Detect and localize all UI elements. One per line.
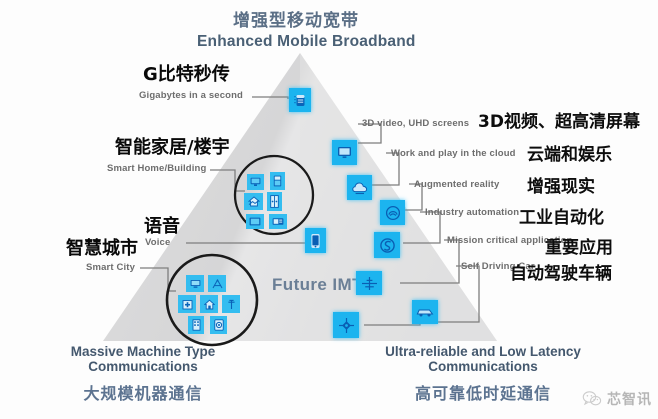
connector-mission <box>400 240 459 283</box>
title-cn: 增强型移动宽带 <box>233 6 359 31</box>
traffic-network-icon[interactable] <box>208 275 226 292</box>
watermark: 芯智讯 <box>582 389 652 409</box>
right-label-cn-3: 工业自动化 <box>519 203 604 228</box>
left-label-en-2: Voice <box>145 237 170 248</box>
left-label-en-0: Gigabytes in a second <box>139 90 243 101</box>
mobile-phone-icon[interactable] <box>305 228 326 253</box>
elevator-icon[interactable] <box>267 192 282 211</box>
city-home-icon[interactable] <box>200 295 218 313</box>
connector-smart-city <box>140 268 176 291</box>
smart-appliance-icon[interactable] <box>270 172 285 190</box>
bottom-left-cn: 大规模机器通信 <box>38 380 248 404</box>
bottom-left-block: Massive Machine Type Communications 大规模机… <box>38 344 248 404</box>
bottom-left-en-line1: Massive Machine Type <box>38 344 248 359</box>
self-driving-car-icon[interactable] <box>412 300 438 324</box>
left-label-cn-1: 智能家居/楼宇 <box>115 133 230 159</box>
right-label-cn-0: 3D视频、超高清屏幕 <box>478 107 640 132</box>
smart-speaker-icon[interactable] <box>269 214 287 229</box>
diagram-canvas: 增强型移动宽带 Enhanced Mobile Broadband G比特秒传 … <box>0 0 658 419</box>
bottom-right-en-line2: Communications <box>358 359 608 374</box>
server-icon[interactable] <box>289 88 311 112</box>
wechat-logo-icon <box>582 390 602 408</box>
connector-smart-home <box>210 170 245 191</box>
right-label-en-1: Work and play in the cloud <box>391 148 516 159</box>
bottom-right-cn: 高可靠低时延通信 <box>358 380 608 404</box>
ar-headset-icon[interactable] <box>380 200 405 225</box>
right-label-en-2: Augmented reality <box>414 179 499 190</box>
right-label-cn-5: 自动驾驶车辆 <box>510 259 612 284</box>
left-label-en-1: Smart Home/Building <box>107 163 206 174</box>
cloud-icon[interactable] <box>347 175 372 200</box>
connector-selfdrive <box>437 266 479 322</box>
right-label-cn-2: 增强现实 <box>527 172 595 197</box>
watermark-text: 芯智讯 <box>607 389 652 409</box>
street-lamp-icon[interactable] <box>222 295 240 313</box>
network-node-icon[interactable] <box>333 312 359 338</box>
hospital-icon[interactable] <box>178 295 196 313</box>
bottom-right-block: Ultra-reliable and Low Latency Communica… <box>358 344 608 404</box>
title-en: Enhanced Mobile Broadband <box>197 33 416 51</box>
mission-critical-icon[interactable] <box>356 271 382 295</box>
center-label: Future IMT <box>272 275 363 295</box>
office-building-icon[interactable] <box>188 316 204 334</box>
right-label-cn-4: 重要应用 <box>545 233 613 258</box>
left-label-cn-0: G比特秒传 <box>143 60 230 86</box>
city-monitor-icon[interactable] <box>186 275 204 292</box>
desktop-computer-icon[interactable] <box>247 174 264 190</box>
surveillance-camera-icon[interactable] <box>210 316 227 334</box>
left-label-en-3: Smart City <box>86 262 135 273</box>
left-label-cn-3: 智慧城市 <box>66 234 138 260</box>
bottom-left-en-line2: Communications <box>38 359 248 374</box>
television-icon[interactable] <box>246 214 264 229</box>
right-label-cn-1: 云端和娱乐 <box>527 140 612 165</box>
right-label-en-0: 3D video, UHD screens <box>362 118 469 129</box>
monitor-icon[interactable] <box>332 140 357 165</box>
home-icon[interactable] <box>244 193 263 210</box>
connector-gigabytes <box>252 97 288 99</box>
left-label-cn-2: 语音 <box>144 212 180 238</box>
gear-automation-icon[interactable] <box>374 232 400 258</box>
right-label-en-3: Industry automation <box>425 207 519 218</box>
bottom-right-en-line1: Ultra-reliable and Low Latency <box>358 344 608 359</box>
